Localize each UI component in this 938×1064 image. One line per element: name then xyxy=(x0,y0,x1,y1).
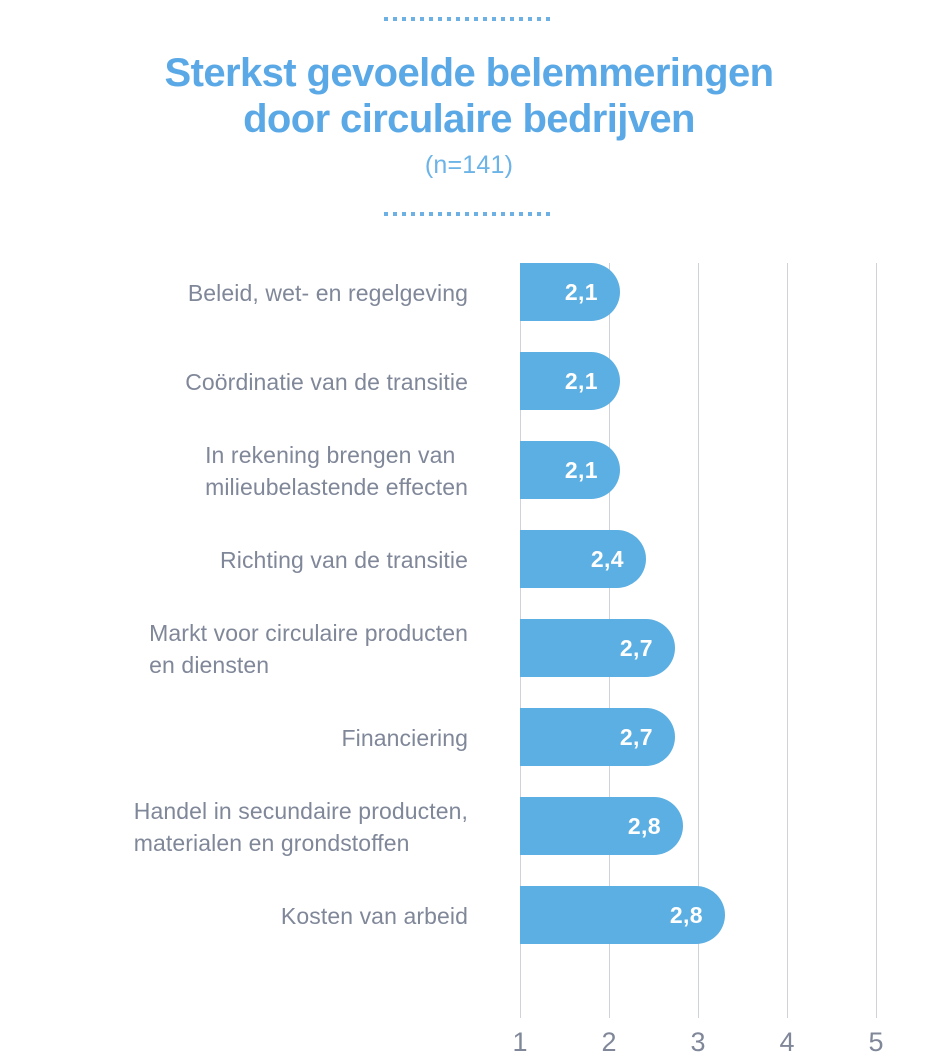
rule-dot-icon xyxy=(456,17,460,21)
x-axis: 12345 xyxy=(0,996,938,1064)
bar[interactable] xyxy=(520,530,646,588)
rule-dot-icon xyxy=(411,17,415,21)
rule-dot-icon xyxy=(528,17,532,21)
category-label-line: en diensten xyxy=(149,649,269,681)
bar-track: 2,1 xyxy=(520,441,620,499)
category-label-line: Financiering xyxy=(342,722,469,754)
axis-tick-4 xyxy=(787,996,788,1018)
bar-value-label: 2,1 xyxy=(565,263,598,321)
rule-dot-icon xyxy=(438,17,442,21)
rule-dot-icon xyxy=(474,212,478,216)
category-label: Coördinatie van de transitie xyxy=(185,337,468,426)
rule-dot-icon xyxy=(492,17,496,21)
category-label: Financiering xyxy=(342,693,469,782)
bar-track: 2,1 xyxy=(520,263,620,321)
category-label-line: materialen en grondstoffen xyxy=(134,827,410,859)
rule-dot-icon xyxy=(546,17,550,21)
dotted-rule-top-icon xyxy=(383,17,555,22)
rule-dot-icon xyxy=(456,212,460,216)
bar-track: 2,4 xyxy=(520,530,646,588)
rule-dot-icon xyxy=(474,17,478,21)
category-label: Kosten van arbeid xyxy=(281,871,468,960)
category-label-line: In rekening brengen van xyxy=(205,439,455,471)
rule-dot-icon xyxy=(420,17,424,21)
category-label: Markt voor circulaire productenen dienst… xyxy=(149,604,468,693)
bar-row: Beleid, wet- en regelgeving2,1 xyxy=(0,248,938,337)
rule-dot-icon xyxy=(546,212,550,216)
category-label-line: Richting van de transitie xyxy=(220,544,468,576)
axis-tick-label: 5 xyxy=(856,1026,896,1058)
chart-title-line-1: Sterkst gevoelde belemmeringen xyxy=(165,51,774,95)
rule-dot-icon xyxy=(429,212,433,216)
bar-row: Richting van de transitie2,4 xyxy=(0,515,938,604)
bar-row: Handel in secundaire producten,materiale… xyxy=(0,782,938,871)
bar-track: 2,1 xyxy=(520,352,620,410)
rule-dot-icon xyxy=(384,212,388,216)
axis-tick-label: 4 xyxy=(767,1026,807,1058)
bar-row: Coördinatie van de transitie2,1 xyxy=(0,337,938,426)
category-label-line: Handel in secundaire producten, xyxy=(134,795,468,827)
bar-value-label: 2,1 xyxy=(565,441,598,499)
bar-value-label: 2,8 xyxy=(670,886,703,944)
bar-row: Kosten van arbeid2,8 xyxy=(0,871,938,960)
axis-tick-5 xyxy=(876,996,877,1018)
bar-value-label: 2,4 xyxy=(591,530,624,588)
category-label-line: Coördinatie van de transitie xyxy=(185,366,468,398)
category-label-line: Kosten van arbeid xyxy=(281,900,468,932)
bar-row: Markt voor circulaire productenen dienst… xyxy=(0,604,938,693)
page-title: Sterkst gevoelde belemmeringen door circ… xyxy=(0,50,938,142)
rule-dot-icon xyxy=(402,212,406,216)
rule-dot-icon xyxy=(384,17,388,21)
category-label: In rekening brengen vanmilieubelastende … xyxy=(205,426,468,515)
rule-dot-icon xyxy=(438,212,442,216)
rule-dot-icon xyxy=(447,17,451,21)
category-label-line: milieubelastende effecten xyxy=(205,471,468,503)
category-label: Beleid, wet- en regelgeving xyxy=(188,248,468,337)
category-label-line: Markt voor circulaire producten xyxy=(149,617,468,649)
category-label-line: Beleid, wet- en regelgeving xyxy=(188,277,468,309)
axis-tick-label: 3 xyxy=(678,1026,718,1058)
rule-dot-icon xyxy=(519,17,523,21)
rule-dot-icon xyxy=(501,17,505,21)
chart-subtitle: (n=141) xyxy=(0,151,938,179)
rule-dot-icon xyxy=(465,17,469,21)
rule-dot-icon xyxy=(393,17,397,21)
rule-dot-icon xyxy=(510,17,514,21)
axis-tick-label: 1 xyxy=(500,1026,540,1058)
category-label: Handel in secundaire producten,materiale… xyxy=(134,782,468,871)
bar-value-label: 2,8 xyxy=(628,797,661,855)
rule-dot-icon xyxy=(447,212,451,216)
chart-plot-area: Beleid, wet- en regelgeving2,1Coördinati… xyxy=(0,248,938,1064)
bar-row: In rekening brengen vanmilieubelastende … xyxy=(0,426,938,515)
bar-track: 2,8 xyxy=(520,797,683,855)
rule-dot-icon xyxy=(465,212,469,216)
rule-dot-icon xyxy=(402,17,406,21)
bar-rows: Beleid, wet- en regelgeving2,1Coördinati… xyxy=(0,248,938,960)
bar-track: 2,7 xyxy=(520,708,675,766)
rule-dot-icon xyxy=(510,212,514,216)
bar-value-label: 2,1 xyxy=(565,352,598,410)
rule-dot-icon xyxy=(393,212,397,216)
rule-dot-icon xyxy=(528,212,532,216)
bar-value-label: 2,7 xyxy=(620,619,653,677)
axis-tick-label: 2 xyxy=(589,1026,629,1058)
rule-dot-icon xyxy=(519,212,523,216)
rule-dot-icon xyxy=(429,17,433,21)
rule-dot-icon xyxy=(420,212,424,216)
bar-track: 2,8 xyxy=(520,886,725,944)
rule-dot-icon xyxy=(537,212,541,216)
chart-header: Sterkst gevoelde belemmeringen door circ… xyxy=(0,0,938,217)
rule-dot-icon xyxy=(492,212,496,216)
bar-row: Financiering2,7 xyxy=(0,693,938,782)
rule-dot-icon xyxy=(501,212,505,216)
rule-dot-icon xyxy=(483,212,487,216)
axis-tick-2 xyxy=(609,996,610,1018)
axis-tick-3 xyxy=(698,996,699,1018)
rule-dot-icon xyxy=(411,212,415,216)
bar-value-label: 2,7 xyxy=(620,708,653,766)
chart-title-line-2: door circulaire bedrijven xyxy=(40,96,898,142)
dotted-rule-bottom-icon xyxy=(383,212,555,217)
rule-dot-icon xyxy=(483,17,487,21)
category-label: Richting van de transitie xyxy=(220,515,468,604)
axis-tick-1 xyxy=(520,996,521,1018)
bar-track: 2,7 xyxy=(520,619,675,677)
rule-dot-icon xyxy=(537,17,541,21)
